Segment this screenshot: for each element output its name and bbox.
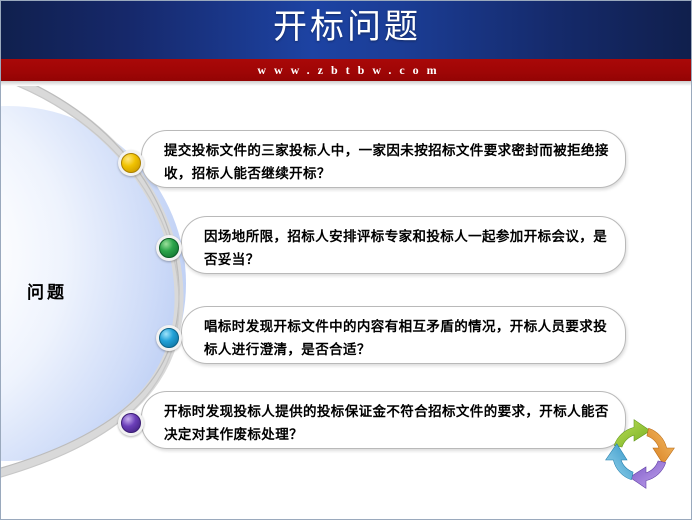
question-text-1: 提交投标文件的三家投标人中，一家因未按招标文件要求密封而被拒绝接收，招标人能否继… xyxy=(164,140,609,186)
bullet-node-green[interactable] xyxy=(156,235,182,261)
bullet-bead-gold xyxy=(121,153,141,173)
bullet-node-purple[interactable] xyxy=(118,410,144,436)
question-text-4: 开标时发现投标人提供的投标保证金不符合招标文件的要求，开标人能否决定对其作废标处… xyxy=(164,401,609,447)
question-text-3: 唱标时发现开标文件中的内容有相互矛盾的情况，开标人员要求投标人进行澄清，是否合适… xyxy=(204,316,609,362)
question-bubble-1[interactable]: 提交投标文件的三家投标人中，一家因未按招标文件要求密封而被拒绝接收，招标人能否继… xyxy=(141,130,626,188)
bullet-bead-green xyxy=(159,238,179,258)
slide-canvas: 开标问题 www.zbtbw.com 问题 提交投标文件的三家投标人中，一家因未… xyxy=(0,0,692,520)
question-bubble-3[interactable]: 唱标时发现开标文件中的内容有相互矛盾的情况，开标人员要求投标人进行澄清，是否合适… xyxy=(181,306,626,364)
bullet-node-cyan[interactable] xyxy=(156,325,182,351)
question-text-2: 因场地所限，招标人安排评标专家和投标人一起参加开标会议，是否妥当？ xyxy=(204,226,609,272)
bullet-node-gold[interactable] xyxy=(118,150,144,176)
cycle-arrows-logo xyxy=(597,411,683,497)
page-title: 开标问题 xyxy=(1,5,692,51)
website-url: www.zbtbw.com xyxy=(1,60,692,80)
diagram-area: 问题 提交投标文件的三家投标人中，一家因未按招标文件要求密封而被拒绝接收，招标人… xyxy=(1,86,691,519)
question-bubble-4[interactable]: 开标时发现投标人提供的投标保证金不符合招标文件的要求，开标人能否决定对其作废标处… xyxy=(141,391,626,449)
question-bubble-2[interactable]: 因场地所限，招标人安排评标专家和投标人一起参加开标会议，是否妥当？ xyxy=(181,216,626,274)
bullet-bead-cyan xyxy=(159,328,179,348)
bullet-bead-purple xyxy=(121,413,141,433)
diagram-left-label: 问题 xyxy=(27,278,67,303)
